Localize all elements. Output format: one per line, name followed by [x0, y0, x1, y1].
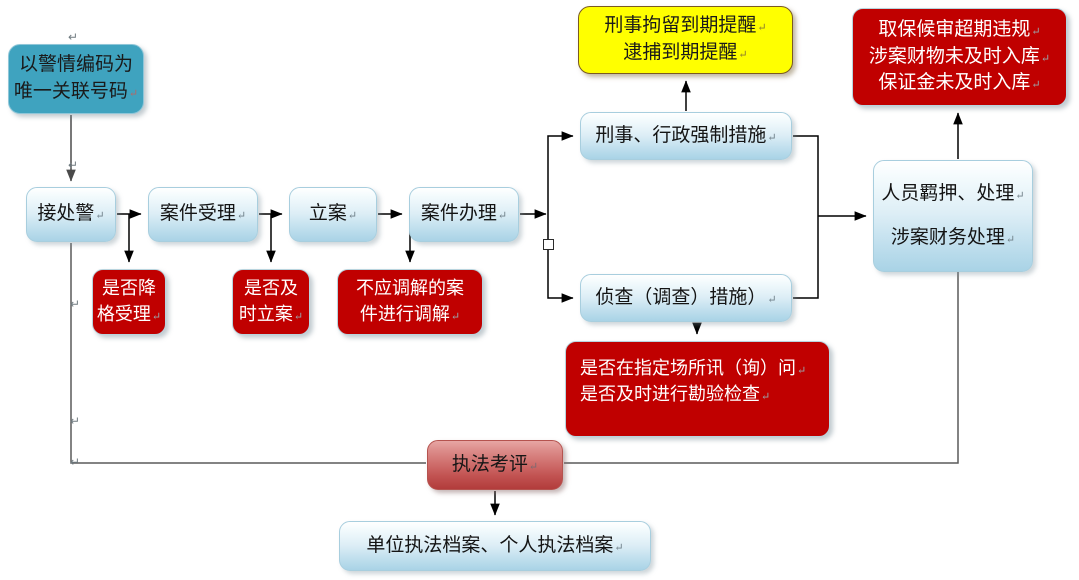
stray-pilcrow-above-source: ↵: [68, 30, 78, 44]
pilcrow-glyph: ↵: [294, 311, 303, 323]
pilcrow-glyph: ↵: [738, 49, 747, 61]
edge-split-to-investigation: [548, 214, 573, 298]
coercive-measures-label: 刑事、行政强制措施↵: [595, 123, 776, 150]
pilcrow-glyph: ↵: [797, 365, 806, 377]
node-case-accept[interactable]: 案件受理↵: [148, 187, 258, 242]
case-accept-label: 案件受理↵: [160, 201, 246, 228]
pilcrow-glyph: ↵: [1015, 190, 1024, 202]
improper-mediation-line-1: 不应调解的案: [356, 276, 464, 302]
node-receive-alarm[interactable]: 接处警↵: [26, 187, 116, 242]
pilcrow-glyph: ↵: [767, 132, 776, 144]
edge-split-to-coercive: [548, 136, 573, 214]
receive-alarm-label: 接处警↵: [37, 201, 104, 228]
node-timely-filing-check[interactable]: 是否及 时立案↵: [232, 269, 310, 335]
pilcrow-glyph: ↵: [95, 210, 104, 222]
enforcement-archives-label: 单位执法档案、个人执法档案↵: [366, 533, 623, 560]
pilcrow-glyph: ↵: [761, 391, 770, 403]
pilcrow-glyph: ↵: [529, 461, 538, 473]
stray-pilcrow-under-source: ↵: [68, 158, 78, 172]
bail-violation-line-1: 取保候审超期违规↵: [878, 17, 1040, 44]
bail-violation-line-2: 涉案财物未及时入库↵: [869, 44, 1050, 71]
flowchart-canvas: 以警情编码为 唯一关联号码↵ 接处警↵ 案件受理↵ 立案↵ 案件办理↵ 刑事、行…: [0, 0, 1079, 580]
edge-merge-to-custody: [793, 136, 818, 298]
pilcrow-glyph: ↵: [348, 210, 357, 222]
node-detention-reminder[interactable]: 刑事拘留到期提醒↵ 逮捕到期提醒↵: [578, 6, 793, 74]
node-custody-property[interactable]: 人员羁押、处理↵ 涉案财务处理↵: [873, 160, 1033, 272]
pilcrow-glyph: ↵: [1031, 26, 1040, 38]
improper-mediation-line-2: 件进行调解↵: [360, 302, 460, 328]
node-coercive-measures[interactable]: 刑事、行政强制措施↵: [580, 112, 792, 160]
pilcrow-glyph: ↵: [767, 294, 776, 306]
pilcrow-glyph: ↵: [498, 210, 507, 222]
investigation-measures-label: 侦查（调查）措施）↵: [595, 285, 776, 312]
case-handle-label: 案件办理↵: [421, 201, 507, 228]
pilcrow-glyph: ↵: [152, 311, 161, 323]
node-enforcement-archives[interactable]: 单位执法档案、个人执法档案↵: [339, 521, 651, 571]
node-source-code[interactable]: 以警情编码为 唯一关联号码↵: [8, 44, 144, 114]
wire-handle[interactable]: [543, 239, 554, 250]
pilcrow-glyph: ↵: [1006, 234, 1015, 246]
node-improper-mediation-check[interactable]: 不应调解的案 件进行调解↵: [337, 269, 483, 335]
stray-pilcrow-left-rail-low: ↵: [70, 414, 80, 428]
pilcrow-glyph: ↵: [757, 22, 766, 34]
downgrade-check-line-1: 是否降: [102, 276, 156, 302]
source-code-line-2: 唯一关联号码↵: [14, 79, 138, 106]
detention-reminder-line-2: 逮捕到期提醒↵: [623, 40, 747, 67]
pilcrow-glyph: ↵: [237, 210, 246, 222]
node-bail-violation[interactable]: 取保候审超期违规↵ 涉案财物未及时入库↵ 保证金未及时入库↵: [852, 8, 1067, 106]
node-interrogation-check[interactable]: 是否在指定场所讯（询）问↵ 是否及时进行勘验检查↵: [565, 341, 830, 437]
pilcrow-glyph: ↵: [614, 542, 623, 554]
custody-property-line-2: 涉案财务处理↵: [891, 216, 1015, 260]
node-investigation-measures[interactable]: 侦查（调查）措施）↵: [580, 274, 792, 322]
node-case-handle[interactable]: 案件办理↵: [409, 187, 519, 242]
enforcement-review-label: 执法考评↵: [452, 452, 538, 479]
stray-pilcrow-left-rail-mid: ↵: [70, 297, 80, 311]
node-downgrade-check[interactable]: 是否降 格受理↵: [92, 269, 166, 335]
pilcrow-glyph: ↵: [129, 88, 138, 100]
detention-reminder-line-1: 刑事拘留到期提醒↵: [604, 13, 766, 40]
interrogation-check-line-1: 是否在指定场所讯（询）问↵: [580, 356, 806, 382]
pilcrow-glyph: ↵: [1041, 53, 1050, 65]
pilcrow-glyph: ↵: [451, 311, 460, 323]
case-file-label: 立案↵: [309, 201, 357, 228]
node-enforcement-review[interactable]: 执法考评↵: [427, 440, 563, 490]
pilcrow-glyph: ↵: [1031, 79, 1040, 91]
source-code-line-1: 以警情编码为: [19, 52, 133, 79]
custody-property-line-1: 人员羁押、处理↵: [881, 172, 1024, 216]
bail-violation-line-3: 保证金未及时入库↵: [878, 70, 1040, 97]
node-case-file[interactable]: 立案↵: [289, 187, 377, 242]
timely-filing-check-line-1: 是否及: [244, 276, 298, 302]
stray-pilcrow-left-rail-end: ↵: [70, 455, 80, 469]
timely-filing-check-line-2: 时立案↵: [239, 302, 303, 328]
interrogation-check-line-2: 是否及时进行勘验检查↵: [580, 382, 770, 408]
downgrade-check-line-2: 格受理↵: [97, 302, 161, 328]
